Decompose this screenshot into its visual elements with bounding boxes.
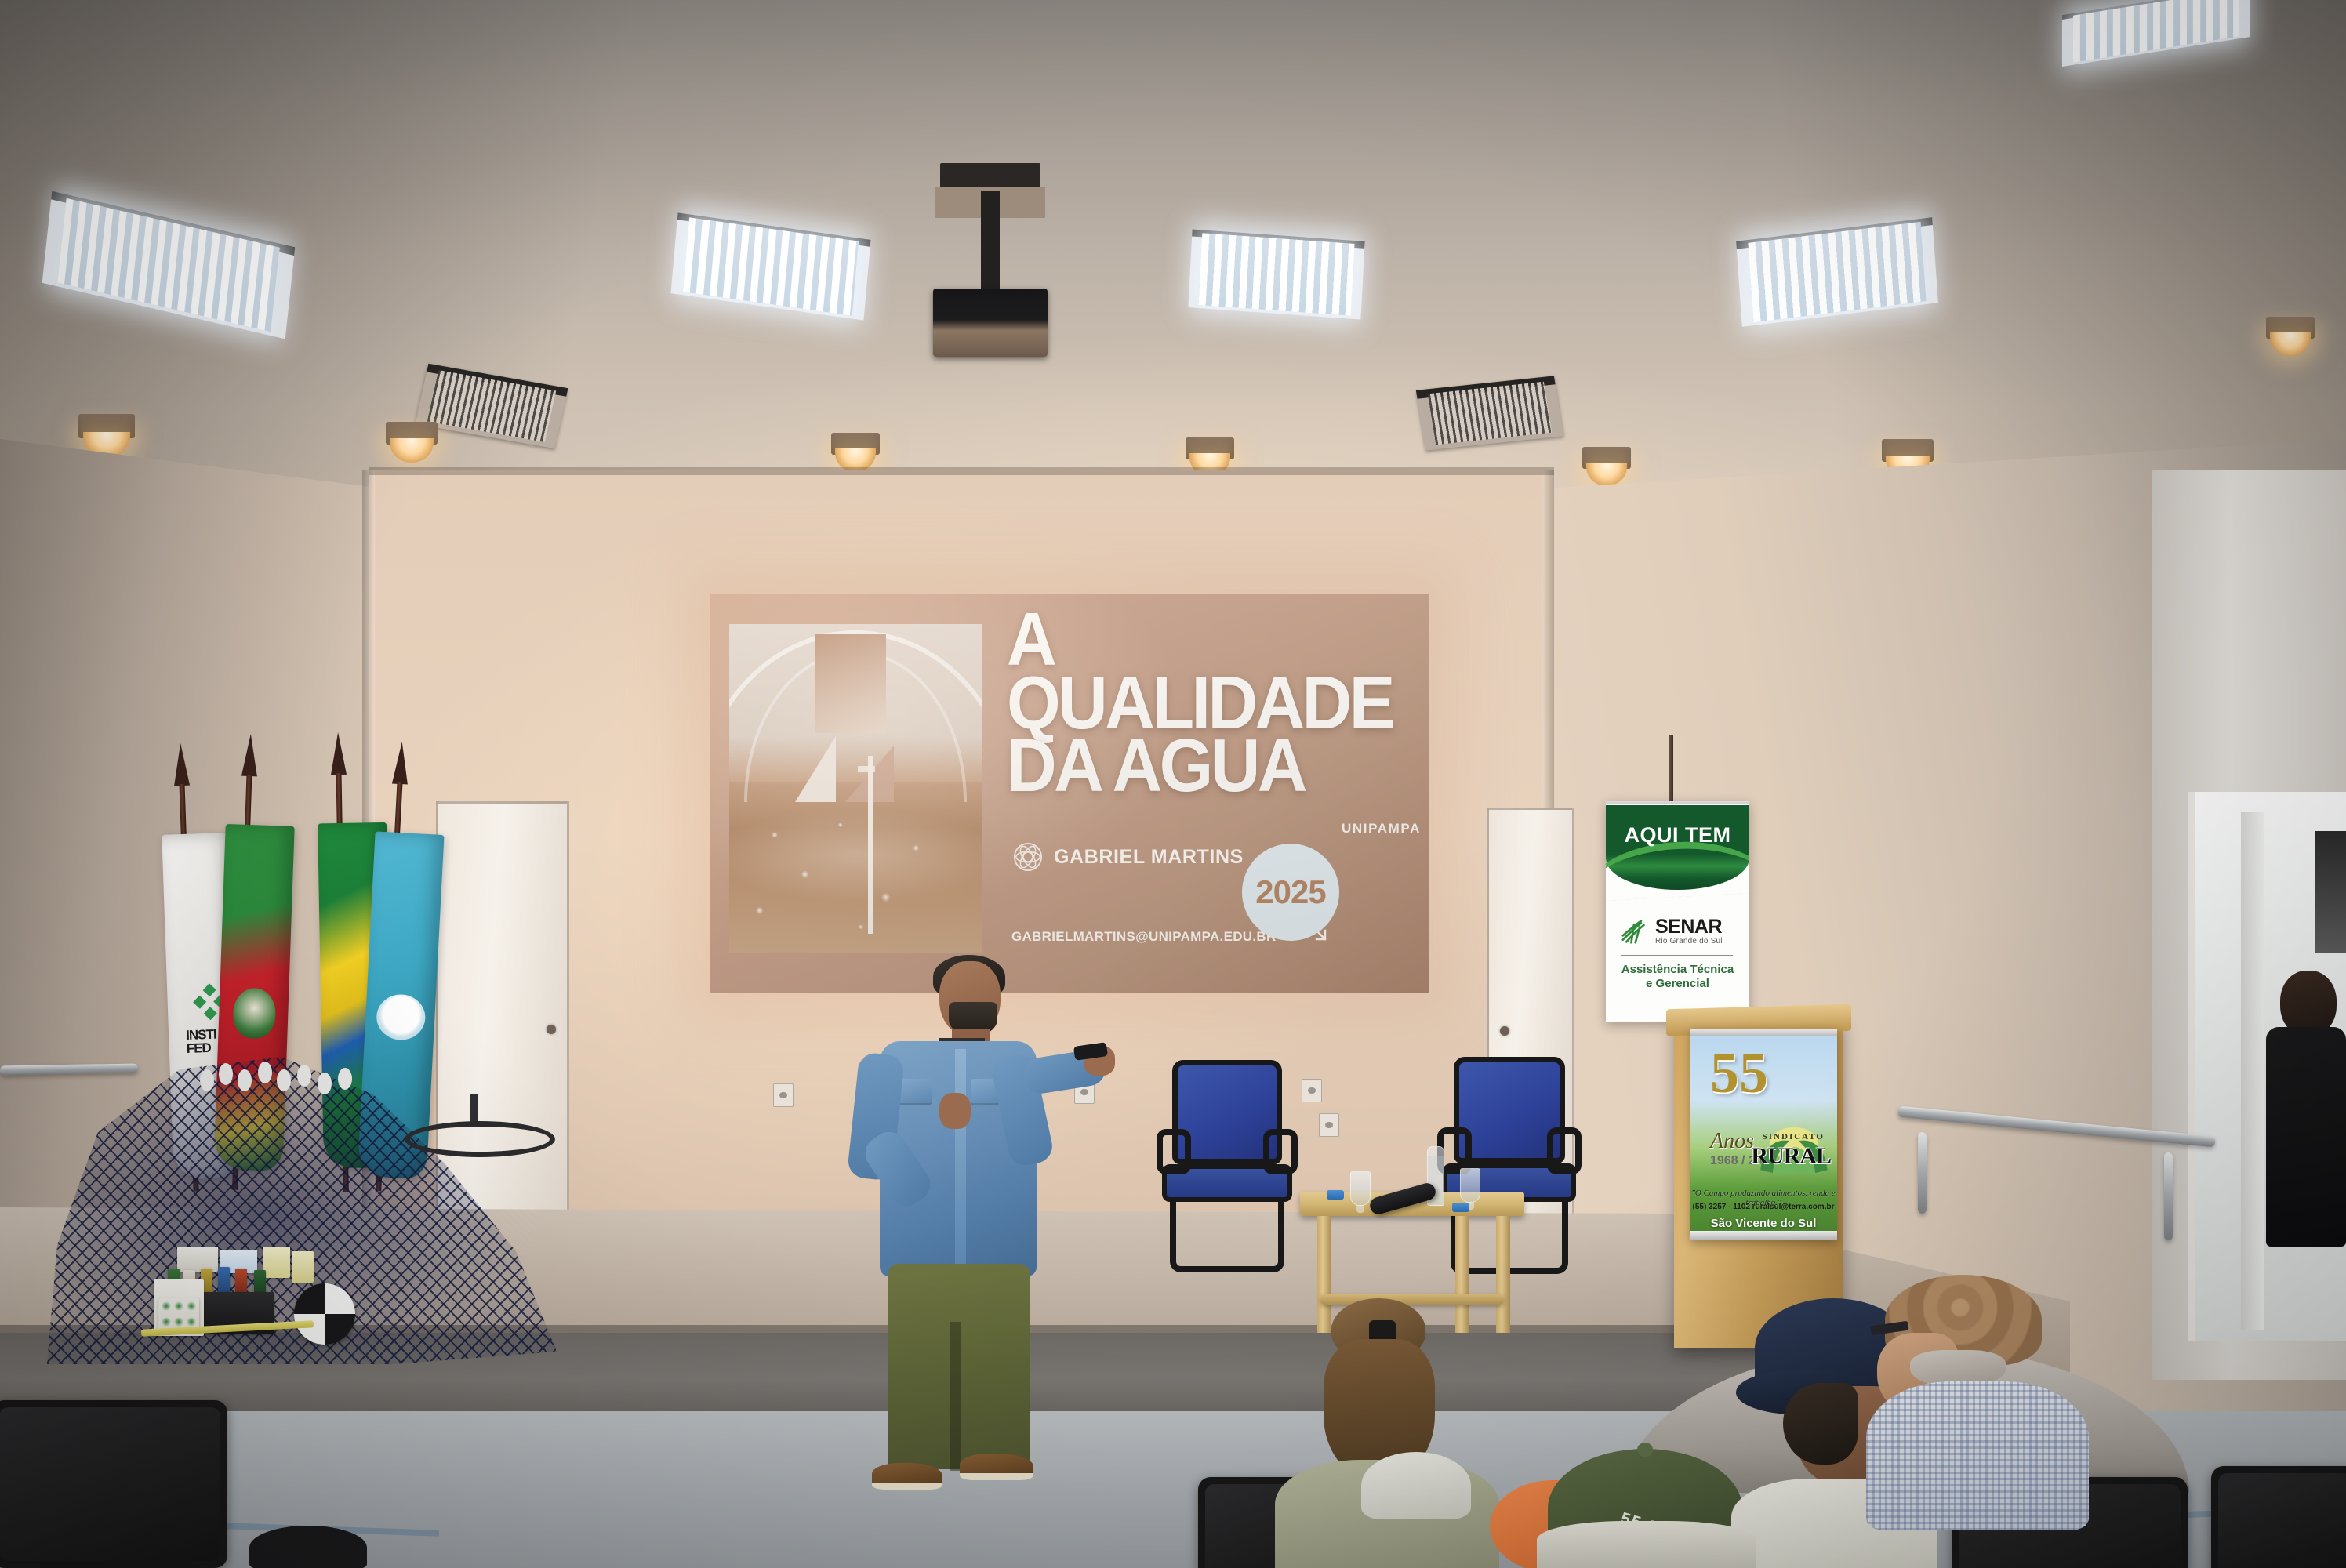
door-knob[interactable] [1500,1026,1509,1036]
auditorium-scene: A QUALIDADE DA AGUA UNIPAMPA GABRIEL MAR… [0,0,2346,1568]
handrail-right-post [1918,1132,1927,1214]
projector-body [933,289,1048,357]
senar-divider [1621,955,1733,956]
doorway-interior-frame [2241,812,2264,1330]
chair-legs [1170,1198,1284,1273]
audience-person-beret [1855,1275,2090,1534]
dip-net-hoop [405,1121,555,1294]
secchi-disk [294,1283,355,1345]
door-knob[interactable] [547,1025,556,1034]
ceiling-spotlight [78,414,135,456]
kit-bottle [235,1269,247,1295]
handrail-right-post [2164,1152,2173,1240]
anniversary-anos: Anos [1710,1129,1754,1154]
water-glass[interactable] [1460,1168,1480,1203]
wall-outlet[interactable] [1319,1113,1339,1137]
spotlight-lens [1586,463,1627,486]
kit-box [263,1247,290,1278]
water-splash [729,789,982,953]
fluorescent-troffer [1188,229,1364,319]
chair-armrest [1157,1129,1190,1175]
projected-slide: A QUALIDADE DA AGUA UNIPAMPA GABRIEL MAR… [710,594,1429,993]
flag-finial [241,734,259,777]
blue-cap [1452,1203,1469,1212]
chair-armrest [1547,1127,1582,1174]
wall-outlet[interactable] [1302,1079,1322,1102]
senar-region: Rio Grande do Sul [1655,937,1723,946]
rs-coat-of-arms [232,987,276,1039]
rural-label: RURAL [1751,1143,1831,1170]
speaker-shoe-right [960,1454,1033,1480]
slide-year-text: 2025 [1255,873,1325,911]
kit-bottle [218,1267,230,1295]
cap-button [1637,1443,1653,1457]
greenhouse-panel [815,634,885,733]
ceiling-spotlight [386,422,438,461]
wheat-leaf-icon [1620,919,1648,944]
wall-outlet[interactable] [773,1083,793,1107]
spotlight-lens [2270,332,2311,356]
person-body-check-shirt [1866,1381,2089,1530]
sindicato-rural-banner: 55 Anos 1968 / 2023 SINDICATO RURAL "O C… [1690,1029,1837,1240]
flag-finial [392,742,410,785]
senar-service: Assistência Técnica e Gerencial [1606,963,1749,992]
banner-top-rail [1606,801,1749,804]
chair-armrest-foreground [249,1526,367,1568]
ceiling-spotlight [2266,317,2315,354]
ceiling-projector [933,163,1048,353]
senar-logo-row: SENAR Rio Grande do Sul [1620,917,1723,946]
banner-rail-top [1690,1029,1837,1036]
audience-chair[interactable] [2211,1466,2346,1568]
chair-cushion [2218,1473,2346,1568]
senar-brand: SENAR [1655,917,1723,937]
kit-box [177,1247,218,1272]
stage-chair[interactable] [1162,1060,1292,1269]
banner-rail-bottom [1690,1231,1837,1240]
anniversary-number: 55 [1710,1049,1768,1099]
audience-person-doorway [2266,971,2346,1339]
projector-pole [981,191,999,301]
senar-service-line1: Assistência Técnica [1606,963,1749,977]
dip-net-ring [405,1121,555,1157]
senar-banner-pole [1669,735,1673,808]
blue-cap [1327,1190,1344,1200]
rosette-logo-icon [1013,842,1043,872]
slide-photo [729,624,982,953]
speaker-shirt-placket [955,1049,966,1270]
ceiling-spotlight [1582,447,1631,485]
kit-box [292,1251,314,1283]
jacket-hood [1361,1452,1471,1519]
slide-title-line3: DA AGUA [1007,735,1309,798]
water-glass[interactable] [1350,1171,1371,1206]
senar-rollup-banner: AQUI TEM SENAR Rio Grande do Sul Assistê… [1606,801,1749,1022]
chair-cushion [0,1407,220,1561]
doorway-window [2315,831,2346,953]
slide-email: GABRIELMARTINS@UNIPAMPA.EDU.BR [1011,929,1276,945]
slide-year-badge: 2025 [1242,844,1339,941]
flag-finial [172,743,190,786]
sindicato-label: SINDICATO [1763,1132,1825,1142]
troffer-tube [1199,233,1354,315]
speaker-trouser-split [950,1322,961,1471]
slide-author-name: GABRIEL MARTINS [1054,846,1244,869]
audience-chair[interactable] [0,1400,227,1568]
slide-author-row: GABRIEL MARTINS [1013,842,1244,872]
speaker-shoe-left [872,1463,942,1490]
flag-finial [330,732,347,775]
vent-slats [1428,382,1552,445]
chair-armrest [1263,1129,1297,1175]
speaker-hand-left [939,1093,971,1129]
person-torso-black [2266,1027,2346,1247]
senar-service-line2: e Gerencial [1606,977,1749,991]
ceiling-spotlight [831,433,880,470]
speaker-presenter [839,953,1106,1502]
senar-headline: AQUI TEM [1606,823,1749,848]
banner-city: São Vicente do Sul [1690,1217,1837,1230]
spotlight-lens [390,438,433,463]
audience-person-ponytail [1267,1298,1502,1568]
ceiling-wall-joint [369,467,1554,475]
audience-foreground-silhouette [1537,1521,1756,1568]
slide-title: A QUALIDADE DA AGUA [1007,608,1309,798]
slide-institution: UNIPAMPA [1342,821,1421,837]
net-floats [196,1057,369,1101]
dip-net-bag [416,1143,543,1284]
banner-contact: (55) 3257 - 1102 ruralsul@terra.com.br [1690,1203,1837,1211]
person-hair-side [1783,1383,1858,1465]
